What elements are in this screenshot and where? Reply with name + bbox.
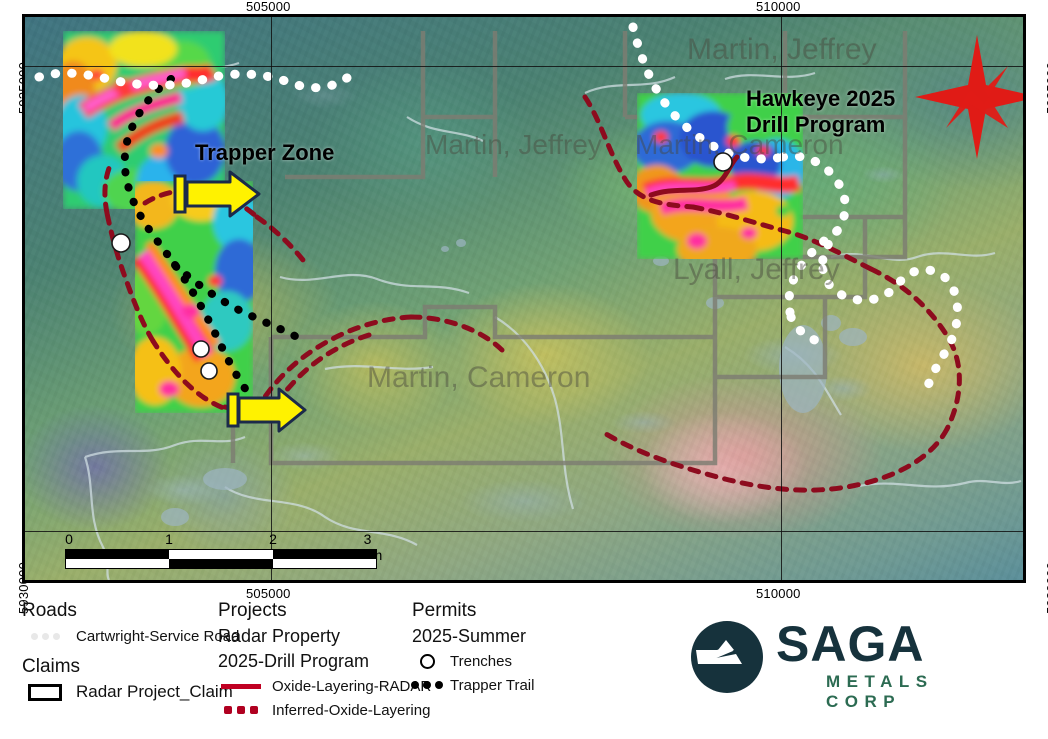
saga-logo-wordmark: SAGA METALS CORP	[776, 618, 980, 712]
saga-metals-logo: SAGA METALS CORP	[690, 616, 980, 706]
scale-bar: 0 1 2 3 km	[65, 531, 377, 569]
legend-item-label: Trapper Trail	[450, 677, 534, 694]
legend-item-label: Trenches	[450, 653, 512, 670]
scale-bar-bars	[65, 549, 377, 569]
solid-red-line-icon	[218, 684, 264, 689]
legend-subheader-2025-summer: 2025-Summer	[412, 626, 534, 647]
legend-item-label: Cartwright-Service Road	[76, 628, 239, 645]
hawkeye-drill-program-label: Hawkeye 2025 Drill Program	[746, 86, 895, 138]
black-rectangle-outline-icon	[22, 684, 68, 701]
legend-column-projects: Projects Radar Property 2025-Drill Progr…	[218, 600, 431, 722]
legend-item-radar-project-claim[interactable]: Radar Project_Claim	[22, 680, 239, 704]
legend-subheader-2025-drill-program: 2025-Drill Program	[218, 651, 431, 672]
trapper-zone-label: Trapper Zone	[195, 140, 334, 166]
coord-right-5930000: 5930000	[1044, 562, 1048, 614]
coord-top-510000: 510000	[756, 0, 801, 14]
scale-bar-ticks: 0 1 2 3 km	[65, 531, 377, 549]
company-name: SAGA	[776, 618, 980, 670]
map-canvas[interactable]: Martin, Jeffrey Martin, Jeffrey Martin, …	[25, 17, 1023, 580]
scale-tick-1: 1	[165, 531, 173, 547]
legend-subheader-radar-property: Radar Property	[218, 626, 431, 647]
legend-item-oxide-layering-radar[interactable]: Oxide-Layering-RADAR	[218, 674, 431, 698]
coord-bottom-505000: 505000	[246, 586, 291, 601]
coord-right-5935000: 5935000	[1044, 62, 1048, 114]
scale-tick-0: 0	[65, 531, 73, 547]
legend-item-label: Inferred-Oxide-Layering	[272, 702, 430, 719]
legend-header-projects: Projects	[218, 600, 431, 622]
saga-logo-mark-icon	[690, 620, 764, 694]
scale-tick-2: 2	[269, 531, 277, 547]
legend-item-label: Oxide-Layering-RADAR	[272, 678, 431, 695]
white-circle-outline-icon	[412, 654, 442, 669]
legend-item-label: Radar Project_Claim	[76, 682, 233, 702]
legend-header-permits: Permits	[412, 600, 534, 622]
dotted-black-line-icon	[412, 681, 442, 689]
legend-item-trapper-trail[interactable]: Trapper Trail	[412, 673, 534, 697]
legend-item-inferred-oxide-layering[interactable]: Inferred-Oxide-Layering	[218, 698, 431, 722]
coord-bottom-510000: 510000	[756, 586, 801, 601]
map-page: 505000 510000 505000 510000 5935000 5930…	[0, 0, 1048, 739]
legend-header-roads: Roads	[22, 600, 239, 622]
dashed-red-line-icon	[218, 706, 264, 714]
legend-header-claims: Claims	[22, 656, 239, 678]
legend-column-permits: Permits 2025-Summer Trenches Trapper Tra…	[412, 600, 534, 697]
legend-item-trenches[interactable]: Trenches	[412, 649, 534, 673]
dotted-white-line-icon	[22, 633, 68, 640]
legend-column-roads-claims: Roads Cartwright-Service Road Claims Rad…	[22, 600, 239, 704]
coord-top-505000: 505000	[246, 0, 291, 14]
map-frame[interactable]: Martin, Jeffrey Martin, Jeffrey Martin, …	[22, 14, 1026, 583]
map-legend: Roads Cartwright-Service Road Claims Rad…	[0, 600, 660, 739]
company-tagline: METALS CORP	[826, 672, 980, 712]
legend-item-cartwright-service-road[interactable]: Cartwright-Service Road	[22, 624, 239, 648]
